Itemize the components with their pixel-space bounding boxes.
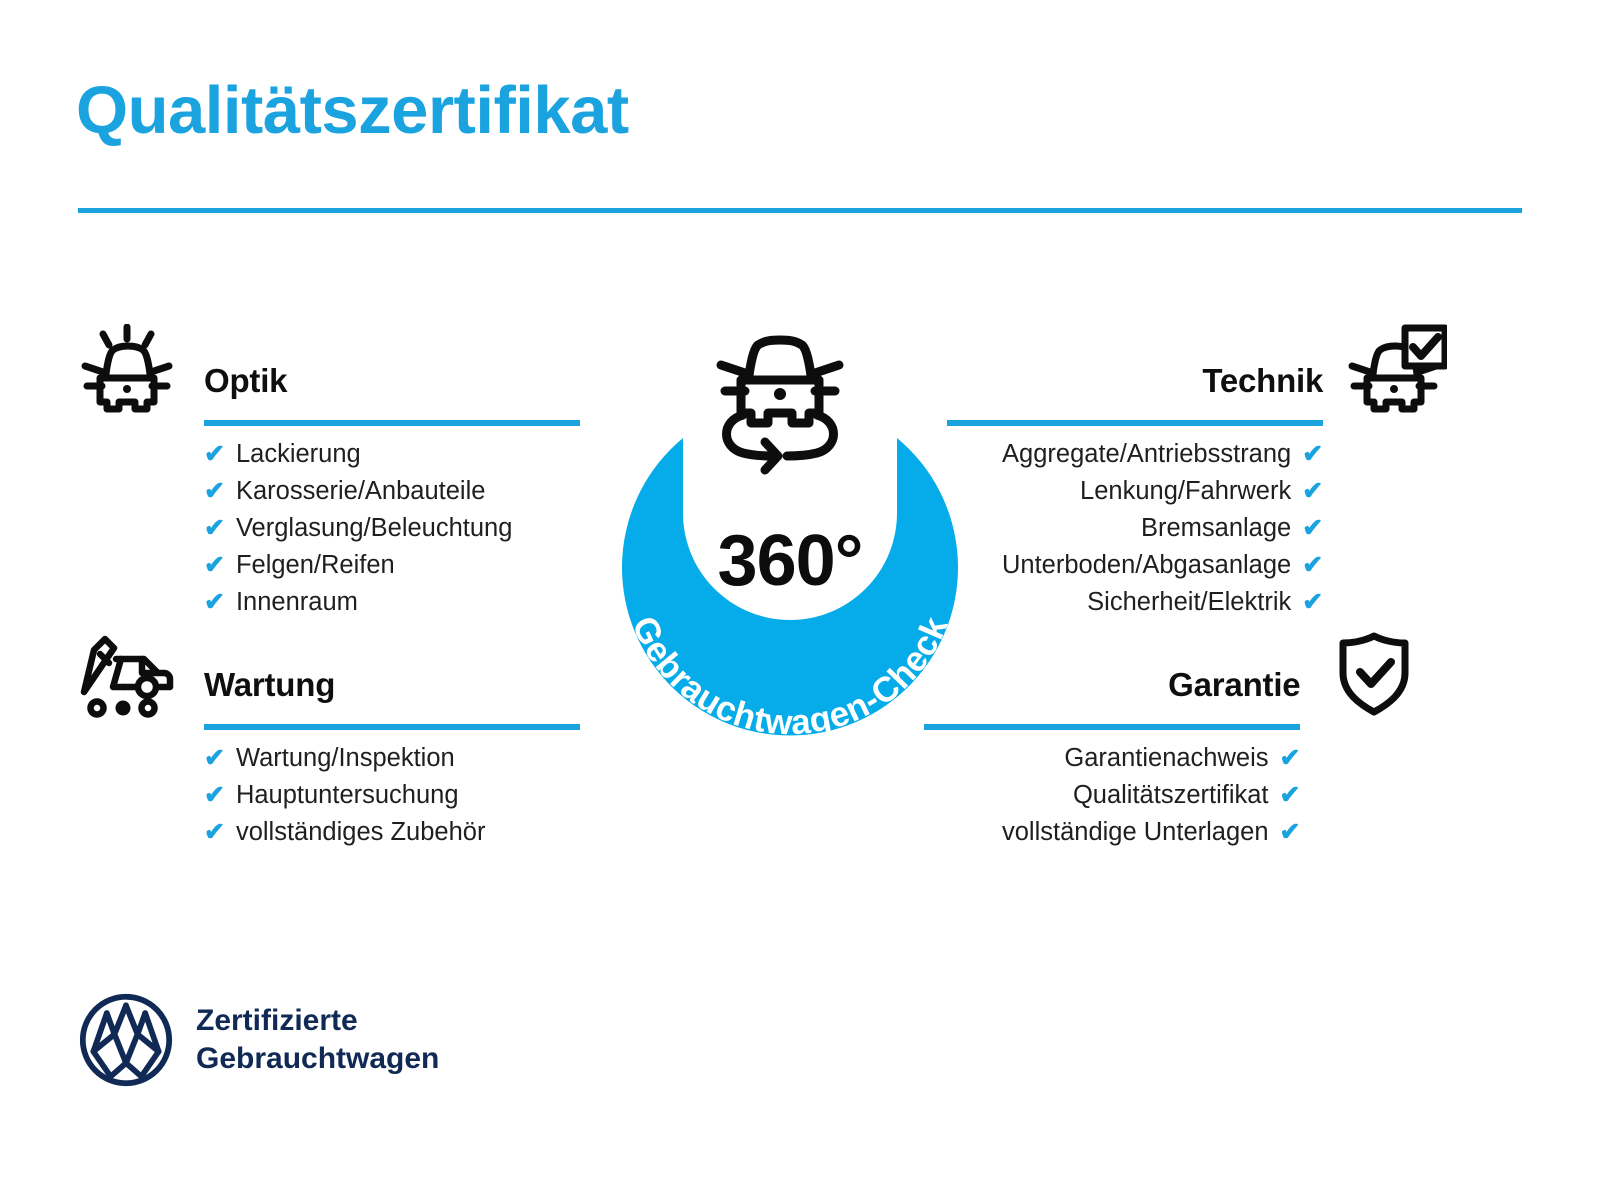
list-item-label: Unterboden/Abgasanlage — [1002, 551, 1291, 580]
car-front-checkbox-icon — [1345, 322, 1449, 418]
list-item-label: Sicherheit/Elektrik — [1087, 588, 1291, 617]
page-title: Qualitätszertifikat — [76, 76, 629, 146]
section-technik: Technik Aggregate/Antriebsstrang✔ Lenkun… — [1002, 322, 1449, 624]
checklist-optik: ✔Lackierung ✔Karosserie/Anbauteile ✔Verg… — [76, 426, 512, 624]
checklist-garantie: Garantienachweis✔ Qualitätszertifikat✔ v… — [1002, 730, 1426, 854]
section-wartung: Wartung ✔Wartung/Inspektion ✔Hauptunters… — [76, 626, 485, 854]
list-item-label: Karosserie/Anbauteile — [236, 477, 485, 506]
list-item-label: Bremsanlage — [1141, 514, 1291, 543]
footer-brand-text: Zertifizierte Gebrauchtwagen — [196, 1002, 439, 1078]
list-item-label: vollständige Unterlagen — [1002, 818, 1269, 847]
certificate-page: Qualitätszertifikat Optik — [0, 0, 1600, 1200]
list-item: vollständige Unterlagen✔ — [1002, 817, 1426, 854]
list-item-label: Garantienachweis — [1064, 744, 1268, 773]
badge-360-check: Gebrauchtwagen-Check 360° — [565, 298, 1015, 758]
list-item: ✔Verglasung/Beleuchtung — [76, 513, 512, 550]
section-garantie: Garantie Garantienachweis✔ Qualitätszert… — [1002, 626, 1426, 854]
check-icon: ✔ — [1280, 743, 1301, 773]
car-front-shine-icon — [76, 322, 180, 418]
section-title: Optik — [204, 362, 287, 400]
list-item: ✔vollständiges Zubehör — [76, 817, 485, 854]
list-item-label: Hauptuntersuchung — [236, 781, 459, 810]
section-header: Optik — [76, 322, 512, 426]
footer-line-2: Gebrauchtwagen — [196, 1040, 439, 1078]
list-item: Qualitätszertifikat✔ — [1002, 780, 1426, 817]
list-item-label: Qualitätszertifikat — [1073, 781, 1269, 810]
list-item: ✔Lackierung — [76, 439, 512, 476]
check-icon: ✔ — [1302, 439, 1323, 469]
check-icon: ✔ — [1302, 587, 1323, 617]
section-underline — [204, 420, 580, 426]
footer-brand: Zertifizierte Gebrauchtwagen — [78, 992, 439, 1088]
car-service-pencil-icon — [76, 626, 180, 722]
section-title: Technik — [1202, 362, 1323, 400]
section-title: Garantie — [1168, 666, 1300, 704]
check-icon: ✔ — [204, 550, 225, 580]
vw-logo-icon — [78, 992, 174, 1088]
check-icon: ✔ — [1302, 550, 1323, 580]
check-icon: ✔ — [1302, 513, 1323, 543]
list-item: Garantienachweis✔ — [1002, 743, 1426, 780]
list-item: ✔Felgen/Reifen — [76, 550, 512, 587]
check-icon: ✔ — [1280, 817, 1301, 847]
list-item-label: Wartung/Inspektion — [236, 744, 455, 773]
footer-line-1: Zertifizierte — [196, 1002, 439, 1040]
list-item: Unterboden/Abgasanlage✔ — [1002, 550, 1449, 587]
check-icon: ✔ — [204, 780, 225, 810]
section-underline — [204, 724, 580, 730]
section-header: Wartung — [76, 626, 485, 730]
list-item-label: Lenkung/Fahrwerk — [1080, 477, 1291, 506]
check-icon: ✔ — [1280, 780, 1301, 810]
list-item-label: Innenraum — [236, 588, 358, 617]
section-header: Garantie — [1002, 626, 1426, 730]
list-item: Bremsanlage✔ — [1002, 513, 1449, 550]
list-item-label: Aggregate/Antriebsstrang — [1002, 440, 1291, 469]
check-icon: ✔ — [204, 817, 225, 847]
list-item: Lenkung/Fahrwerk✔ — [1002, 476, 1449, 513]
list-item-label: Felgen/Reifen — [236, 551, 395, 580]
list-item: ✔Innenraum — [76, 587, 512, 624]
header-divider — [78, 208, 1522, 213]
list-item-label: vollständiges Zubehör — [236, 818, 485, 847]
list-item-label: Lackierung — [236, 440, 361, 469]
shield-check-icon — [1322, 626, 1426, 722]
car-front-rotate-icon — [721, 340, 839, 470]
check-icon: ✔ — [204, 743, 225, 773]
check-icon: ✔ — [204, 476, 225, 506]
check-icon: ✔ — [204, 439, 225, 469]
list-item: ✔Wartung/Inspektion — [76, 743, 485, 780]
list-item: ✔Karosserie/Anbauteile — [76, 476, 512, 513]
list-item: Sicherheit/Elektrik✔ — [1002, 587, 1449, 624]
check-icon: ✔ — [204, 513, 225, 543]
check-icon: ✔ — [1302, 476, 1323, 506]
list-item: Aggregate/Antriebsstrang✔ — [1002, 439, 1449, 476]
section-title: Wartung — [204, 666, 335, 704]
section-header: Technik — [1002, 322, 1449, 426]
list-item-label: Verglasung/Beleuchtung — [236, 514, 512, 543]
badge-value: 360° — [565, 520, 1015, 602]
checklist-technik: Aggregate/Antriebsstrang✔ Lenkung/Fahrwe… — [1002, 426, 1449, 624]
checklist-wartung: ✔Wartung/Inspektion ✔Hauptuntersuchung ✔… — [76, 730, 485, 854]
list-item: ✔Hauptuntersuchung — [76, 780, 485, 817]
check-icon: ✔ — [204, 587, 225, 617]
section-optik: Optik ✔Lackierung ✔Karosserie/Anbauteile… — [76, 322, 512, 624]
